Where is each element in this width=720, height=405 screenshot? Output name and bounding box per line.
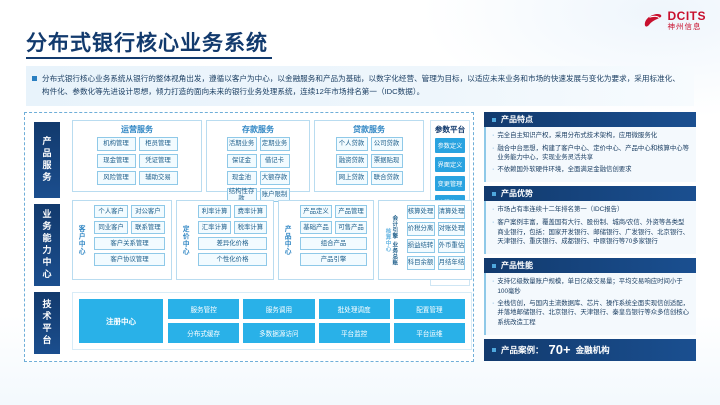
bullet-row: ·支持亿级数量账户规模，单日亿级交易量；平均交易响应时间小于100毫秒 bbox=[492, 277, 690, 296]
group-card-deposit-service: 存款服务 活期业务定期业务保证金借记卡现金池大额存款结构性存款账户限制司法查控 bbox=[206, 120, 310, 192]
tech-chip-item[interactable]: 平台监控 bbox=[319, 323, 390, 343]
dot-bullet-icon: · bbox=[492, 131, 494, 142]
section-product-performance: 产品性能 ·支持亿级数量账户规模，单日亿级交易量；平均交易响应时间小于100毫秒… bbox=[484, 258, 696, 335]
case-number: 70+ bbox=[549, 342, 571, 357]
chip-item[interactable]: 产品管理 bbox=[335, 205, 367, 218]
group-card-operation-service: 运营服务 机构管理柜员管理现金管理凭证管理风险管理辅助交易 bbox=[72, 120, 202, 192]
chip-item[interactable]: 税率计算 bbox=[234, 221, 267, 234]
chip-item[interactable]: 票据贴现 bbox=[371, 154, 403, 168]
tech-chip-item[interactable]: 服务管控 bbox=[168, 299, 239, 319]
chip-item[interactable]: 辅助交易 bbox=[139, 171, 178, 185]
chip-item[interactable]: 同业客户 bbox=[94, 221, 128, 234]
chip-item[interactable]: 定期业务 bbox=[260, 137, 290, 151]
chip-item[interactable]: 个性化价格 bbox=[198, 253, 267, 266]
chip-item[interactable]: 可售产品 bbox=[335, 221, 367, 234]
chip-item[interactable]: 公司贷款 bbox=[371, 137, 403, 151]
tech-platform-panel: 注册中心 服务管控服务调用批处理调度配置管理分布式缓存多数据源访问平台监控平台运… bbox=[72, 292, 472, 350]
bullet-row: ·完全自主知识产权，采用分布式技术架构，应用微服务化 bbox=[492, 131, 690, 142]
capability-card-product-center: 产品中心 产品定义产品管理基础产品可售产品组合产品产品引擎 bbox=[278, 200, 374, 280]
chip-item[interactable]: 现金池 bbox=[227, 171, 257, 185]
chip-item[interactable]: 联系管理 bbox=[131, 221, 165, 234]
section-body: ·完全自主知识产权，采用分布式技术架构，应用微服务化·融合中台思想，构建了客户中… bbox=[484, 127, 696, 182]
bullet-text: 融合中台思想，构建了客户中心、定价中心、产品中心和核算中心等业务能力中心，实现业… bbox=[497, 144, 690, 163]
chip-item[interactable]: 大额存款 bbox=[260, 171, 290, 185]
chip-item[interactable]: 月结年结 bbox=[438, 256, 466, 270]
logo-brand-text-cn: 神州信息 bbox=[668, 23, 707, 31]
chip-item[interactable]: 个人贷款 bbox=[336, 137, 368, 151]
chip-item[interactable]: 产品引擎 bbox=[300, 253, 367, 266]
chip-item[interactable]: 外币重估 bbox=[438, 239, 466, 253]
capability-label-accounting: 核算中心 会计引擎 业务总账 bbox=[379, 201, 401, 279]
chip-item[interactable]: 利率计算 bbox=[198, 205, 231, 218]
tech-register-center[interactable]: 注册中心 bbox=[79, 299, 163, 343]
case-label: 产品案例： bbox=[501, 344, 544, 356]
title-underline bbox=[26, 57, 272, 59]
tech-chip-item[interactable]: 分布式缓存 bbox=[168, 323, 239, 343]
section-header: 产品特点 bbox=[484, 112, 696, 127]
brand-logo: DCITS 神州信息 bbox=[642, 10, 707, 31]
chip-item[interactable]: 价税分离 bbox=[407, 222, 435, 236]
section-title: 产品特点 bbox=[501, 114, 533, 125]
chip-list: 机构管理柜员管理现金管理凭证管理风险管理辅助交易 bbox=[73, 137, 201, 189]
section-product-advantages: 产品优势 ·市场占有率连续十二年排名第一（IDC报告）·客户案例丰富，覆盖国有大… bbox=[484, 186, 696, 254]
chip-item[interactable]: 机构管理 bbox=[97, 137, 136, 151]
intro-banner: 分布式银行核心业务系统从银行的整体视角出发，遵循以客户为中心，以金融服务和产品为… bbox=[26, 66, 694, 106]
group-title: 运营服务 bbox=[73, 121, 201, 137]
square-bullet-icon bbox=[492, 348, 496, 352]
chip-item[interactable]: 参数定义 bbox=[435, 138, 465, 153]
bullet-row: ·融合中台思想，构建了客户中心、定价中心、产品中心和核算中心等业务能力中心，实现… bbox=[492, 144, 690, 163]
bullet-text: 客户案例丰富，覆盖国有大行、股份制、城商/农信、外资等各类型商业银行，包括：国家… bbox=[497, 218, 690, 247]
dot-bullet-icon: · bbox=[492, 277, 494, 296]
dot-bullet-icon: · bbox=[492, 205, 494, 216]
chip-item[interactable]: 变更管理 bbox=[435, 176, 465, 191]
square-bullet-icon bbox=[492, 192, 496, 196]
dot-bullet-icon: · bbox=[492, 299, 494, 328]
sidebar-item-tech-platform[interactable]: 技术平台 bbox=[34, 292, 60, 354]
section-body: ·支持亿级数量账户规模，单日亿级交易量；平均交易响应时间小于100毫秒·全栈信创… bbox=[484, 273, 696, 335]
square-bullet-icon bbox=[492, 118, 496, 122]
square-bullet-icon bbox=[492, 264, 496, 268]
chip-item[interactable]: 组合产品 bbox=[300, 237, 367, 250]
chip-item[interactable]: 保证金 bbox=[227, 154, 257, 168]
chip-item[interactable]: 差异化价格 bbox=[198, 237, 267, 250]
dot-bullet-icon: · bbox=[492, 144, 494, 163]
chip-item[interactable]: 对公客户 bbox=[131, 205, 165, 218]
section-product-features: 产品特点 ·完全自主知识产权，采用分布式技术架构，应用微服务化·融合中台思想，构… bbox=[484, 112, 696, 182]
capability-card-pricing-center: 定价中心 利率计算费率计算汇率计算税率计算差异化价格个性化价格 bbox=[176, 200, 274, 280]
chip-item[interactable]: 界面定义 bbox=[435, 157, 465, 172]
chip-item[interactable]: 科目余额 bbox=[407, 256, 435, 270]
section-header: 产品性能 bbox=[484, 258, 696, 273]
chip-item[interactable]: 借记卡 bbox=[260, 154, 290, 168]
slide-root: DCITS 神州信息 分布式银行核心业务系统 分布式银行核心业务系统从银行的整体… bbox=[0, 0, 720, 405]
param-platform-title: 参数平台 bbox=[431, 121, 469, 138]
dot-bullet-icon: · bbox=[492, 218, 494, 247]
group-title: 贷款服务 bbox=[315, 121, 423, 137]
section-product-cases: 产品案例： 70+ 金融机构 bbox=[484, 339, 696, 361]
bullet-text: 不依赖国外软硬件环境，全面满足金融信创要求 bbox=[497, 165, 631, 176]
section-body: ·市场占有率连续十二年排名第一（IDC报告）·客户案例丰富，覆盖国有大行、股份制… bbox=[484, 201, 696, 254]
bullet-text: 市场占有率连续十二年排名第一（IDC报告） bbox=[497, 205, 623, 216]
bullet-row: ·全栈信创，与国内主流数据库、芯片、操作系统全面实现信创适配，并落地邮储银行、北… bbox=[492, 299, 690, 328]
tech-chip-item[interactable]: 批处理调度 bbox=[319, 299, 390, 319]
chip-item[interactable]: 活期业务 bbox=[227, 137, 257, 151]
chip-item[interactable]: 费率计算 bbox=[234, 205, 267, 218]
dcits-swoosh-icon bbox=[642, 10, 664, 30]
capability-sublabel: 会计引擎 业务总账 bbox=[391, 215, 397, 266]
capability-label: 客户中心 bbox=[73, 201, 88, 279]
chip-item[interactable]: 凭证管理 bbox=[139, 154, 178, 168]
intro-text: 分布式银行核心业务系统从银行的整体视角出发，遵循以客户为中心，以金融服务和产品为… bbox=[42, 72, 686, 106]
chip-item[interactable]: 客户关系管理 bbox=[94, 237, 165, 250]
bullet-text: 支持亿级数量账户规模，单日亿级交易量；平均交易响应时间小于100毫秒 bbox=[497, 277, 690, 296]
square-bullet-icon bbox=[32, 76, 37, 81]
chip-item[interactable]: 核算处理 bbox=[407, 205, 435, 219]
capability-body: 个人客户对公客户同业客户联系管理客户关系管理客户协议管理 bbox=[88, 201, 171, 279]
capability-card-customer-center: 客户中心 个人客户对公客户同业客户联系管理客户关系管理客户协议管理 bbox=[72, 200, 172, 280]
chip-item[interactable]: 产品定义 bbox=[300, 205, 332, 218]
right-info-panel: 产品特点 ·完全自主知识产权，采用分布式技术架构，应用微服务化·融合中台思想，构… bbox=[484, 112, 696, 362]
chip-item[interactable]: 汇率计算 bbox=[198, 221, 231, 234]
group-card-loan-service: 贷款服务 个人贷款公司贷款融资贷款票据贴现网上贷款联合贷款 bbox=[314, 120, 424, 192]
chip-item[interactable]: 现金管理 bbox=[97, 154, 136, 168]
chip-item[interactable]: 客户协议管理 bbox=[94, 253, 165, 266]
capability-card-accounting-center: 核算中心 会计引擎 业务总账 核算处理清算处理价税分离对账处理损益结转外币重估科… bbox=[378, 200, 472, 280]
chip-item[interactable]: 联合贷款 bbox=[371, 171, 403, 185]
case-unit: 金融机构 bbox=[576, 344, 610, 356]
section-header: 产品优势 bbox=[484, 186, 696, 201]
bullet-row: ·市场占有率连续十二年排名第一（IDC报告） bbox=[492, 205, 690, 216]
chip-item[interactable]: 基础产品 bbox=[300, 221, 332, 234]
tech-chip-item[interactable]: 多数据源访问 bbox=[243, 323, 314, 343]
capability-label: 定价中心 bbox=[177, 201, 192, 279]
sidebar-item-capability-center[interactable]: 业务能力中心 bbox=[34, 204, 60, 286]
capability-body: 核算处理清算处理价税分离对账处理损益结转外币重估科目余额月结年结 bbox=[401, 201, 471, 279]
chip-item[interactable]: 损益结转 bbox=[407, 239, 435, 253]
bullet-text: 完全自主知识产权，采用分布式技术架构，应用微服务化 bbox=[497, 131, 657, 142]
chip-item[interactable]: 风险管理 bbox=[97, 171, 136, 185]
chip-item[interactable]: 个人客户 bbox=[94, 205, 128, 218]
bullet-row: ·客户案例丰富，覆盖国有大行、股份制、城商/农信、外资等各类型商业银行，包括：国… bbox=[492, 218, 690, 247]
capability-label: 产品中心 bbox=[279, 201, 294, 279]
capability-body: 利率计算费率计算汇率计算税率计算差异化价格个性化价格 bbox=[192, 201, 273, 279]
chip-item[interactable]: 柜员管理 bbox=[139, 137, 178, 151]
chip-item[interactable]: 融资贷款 bbox=[336, 154, 368, 168]
chip-item[interactable]: 对账处理 bbox=[438, 222, 466, 236]
group-title: 存款服务 bbox=[207, 121, 309, 137]
capability-label: 核算中心 bbox=[384, 228, 390, 252]
chip-item[interactable]: 网上贷款 bbox=[336, 171, 368, 185]
tech-chip-item[interactable]: 服务调用 bbox=[243, 299, 314, 319]
tech-chip-grid: 服务管控服务调用批处理调度配置管理分布式缓存多数据源访问平台监控平台运维 bbox=[168, 299, 465, 343]
tech-chip-item[interactable]: 平台运维 bbox=[394, 323, 465, 343]
dot-bullet-icon: · bbox=[492, 165, 494, 176]
bullet-text: 全栈信创，与国内主流数据库、芯片、操作系统全面实现信创适配，并落地邮储银行、北京… bbox=[497, 299, 690, 328]
section-title: 产品优势 bbox=[501, 188, 533, 199]
page-title: 分布式银行核心业务系统 bbox=[26, 27, 268, 57]
tech-chip-item[interactable]: 配置管理 bbox=[394, 299, 465, 319]
logo-brand-text: DCITS bbox=[668, 10, 707, 22]
bullet-row: ·不依赖国外软硬件环境，全面满足金融信创要求 bbox=[492, 165, 690, 176]
capability-body: 产品定义产品管理基础产品可售产品组合产品产品引擎 bbox=[294, 201, 373, 279]
sidebar-item-product-service[interactable]: 产品服务 bbox=[34, 122, 60, 198]
chip-list: 个人贷款公司贷款融资贷款票据贴现网上贷款联合贷款 bbox=[315, 137, 423, 189]
chip-item[interactable]: 清算处理 bbox=[438, 205, 466, 219]
section-title: 产品性能 bbox=[501, 260, 533, 271]
